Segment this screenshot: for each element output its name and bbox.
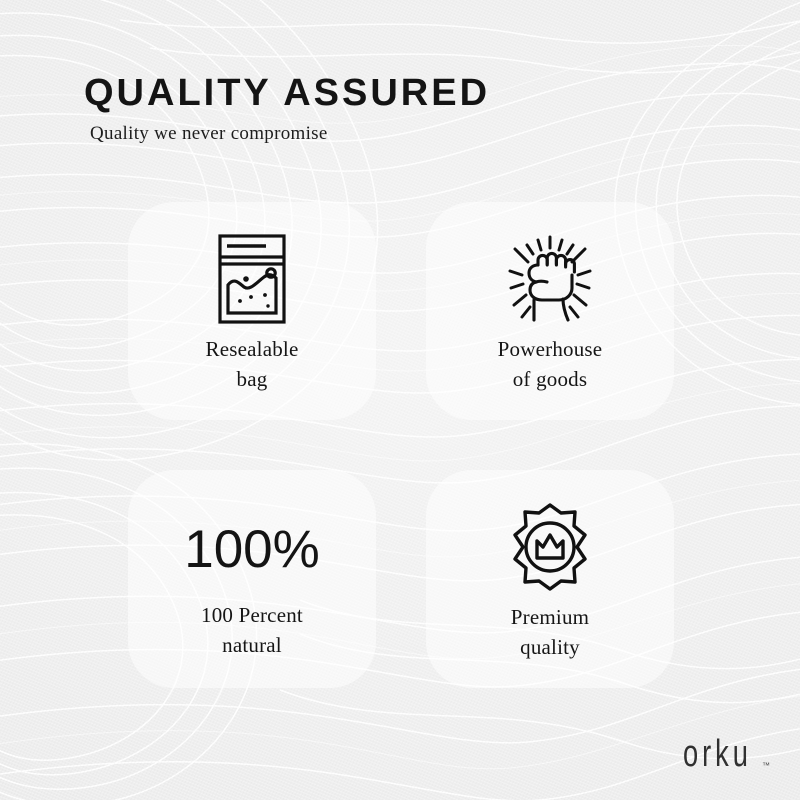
stat-value: 100% bbox=[184, 497, 320, 601]
quality-assured-infographic: QUALITY ASSURED Quality we never comprom… bbox=[0, 0, 800, 800]
brand-logo: orku ™ bbox=[683, 741, 770, 772]
page-title: QUALITY ASSURED bbox=[84, 74, 490, 114]
feature-card-100-percent-natural[interactable]: 100% 100 Percent natural bbox=[128, 470, 376, 688]
page-subtitle: Quality we never compromise bbox=[90, 123, 490, 145]
feature-label: 100 Percent natural bbox=[201, 601, 303, 661]
raised-fist-icon bbox=[502, 227, 598, 331]
header: QUALITY ASSURED Quality we never comprom… bbox=[84, 74, 490, 145]
feature-label: Premium quality bbox=[511, 603, 589, 663]
feature-card-resealable-bag[interactable]: Resealable bag bbox=[128, 202, 376, 420]
feature-card-premium-quality[interactable]: Premium quality bbox=[426, 470, 674, 688]
resealable-bag-icon bbox=[216, 227, 288, 331]
feature-label: Powerhouse of goods bbox=[498, 335, 603, 395]
feature-label: Resealable bag bbox=[206, 335, 299, 395]
brand-wordmark: orku bbox=[683, 734, 752, 772]
trademark-symbol: ™ bbox=[762, 761, 770, 770]
feature-card-powerhouse-of-goods[interactable]: Powerhouse of goods bbox=[426, 202, 674, 420]
crown-badge-icon bbox=[504, 495, 596, 599]
feature-card-grid: Resealable bag bbox=[128, 202, 674, 672]
